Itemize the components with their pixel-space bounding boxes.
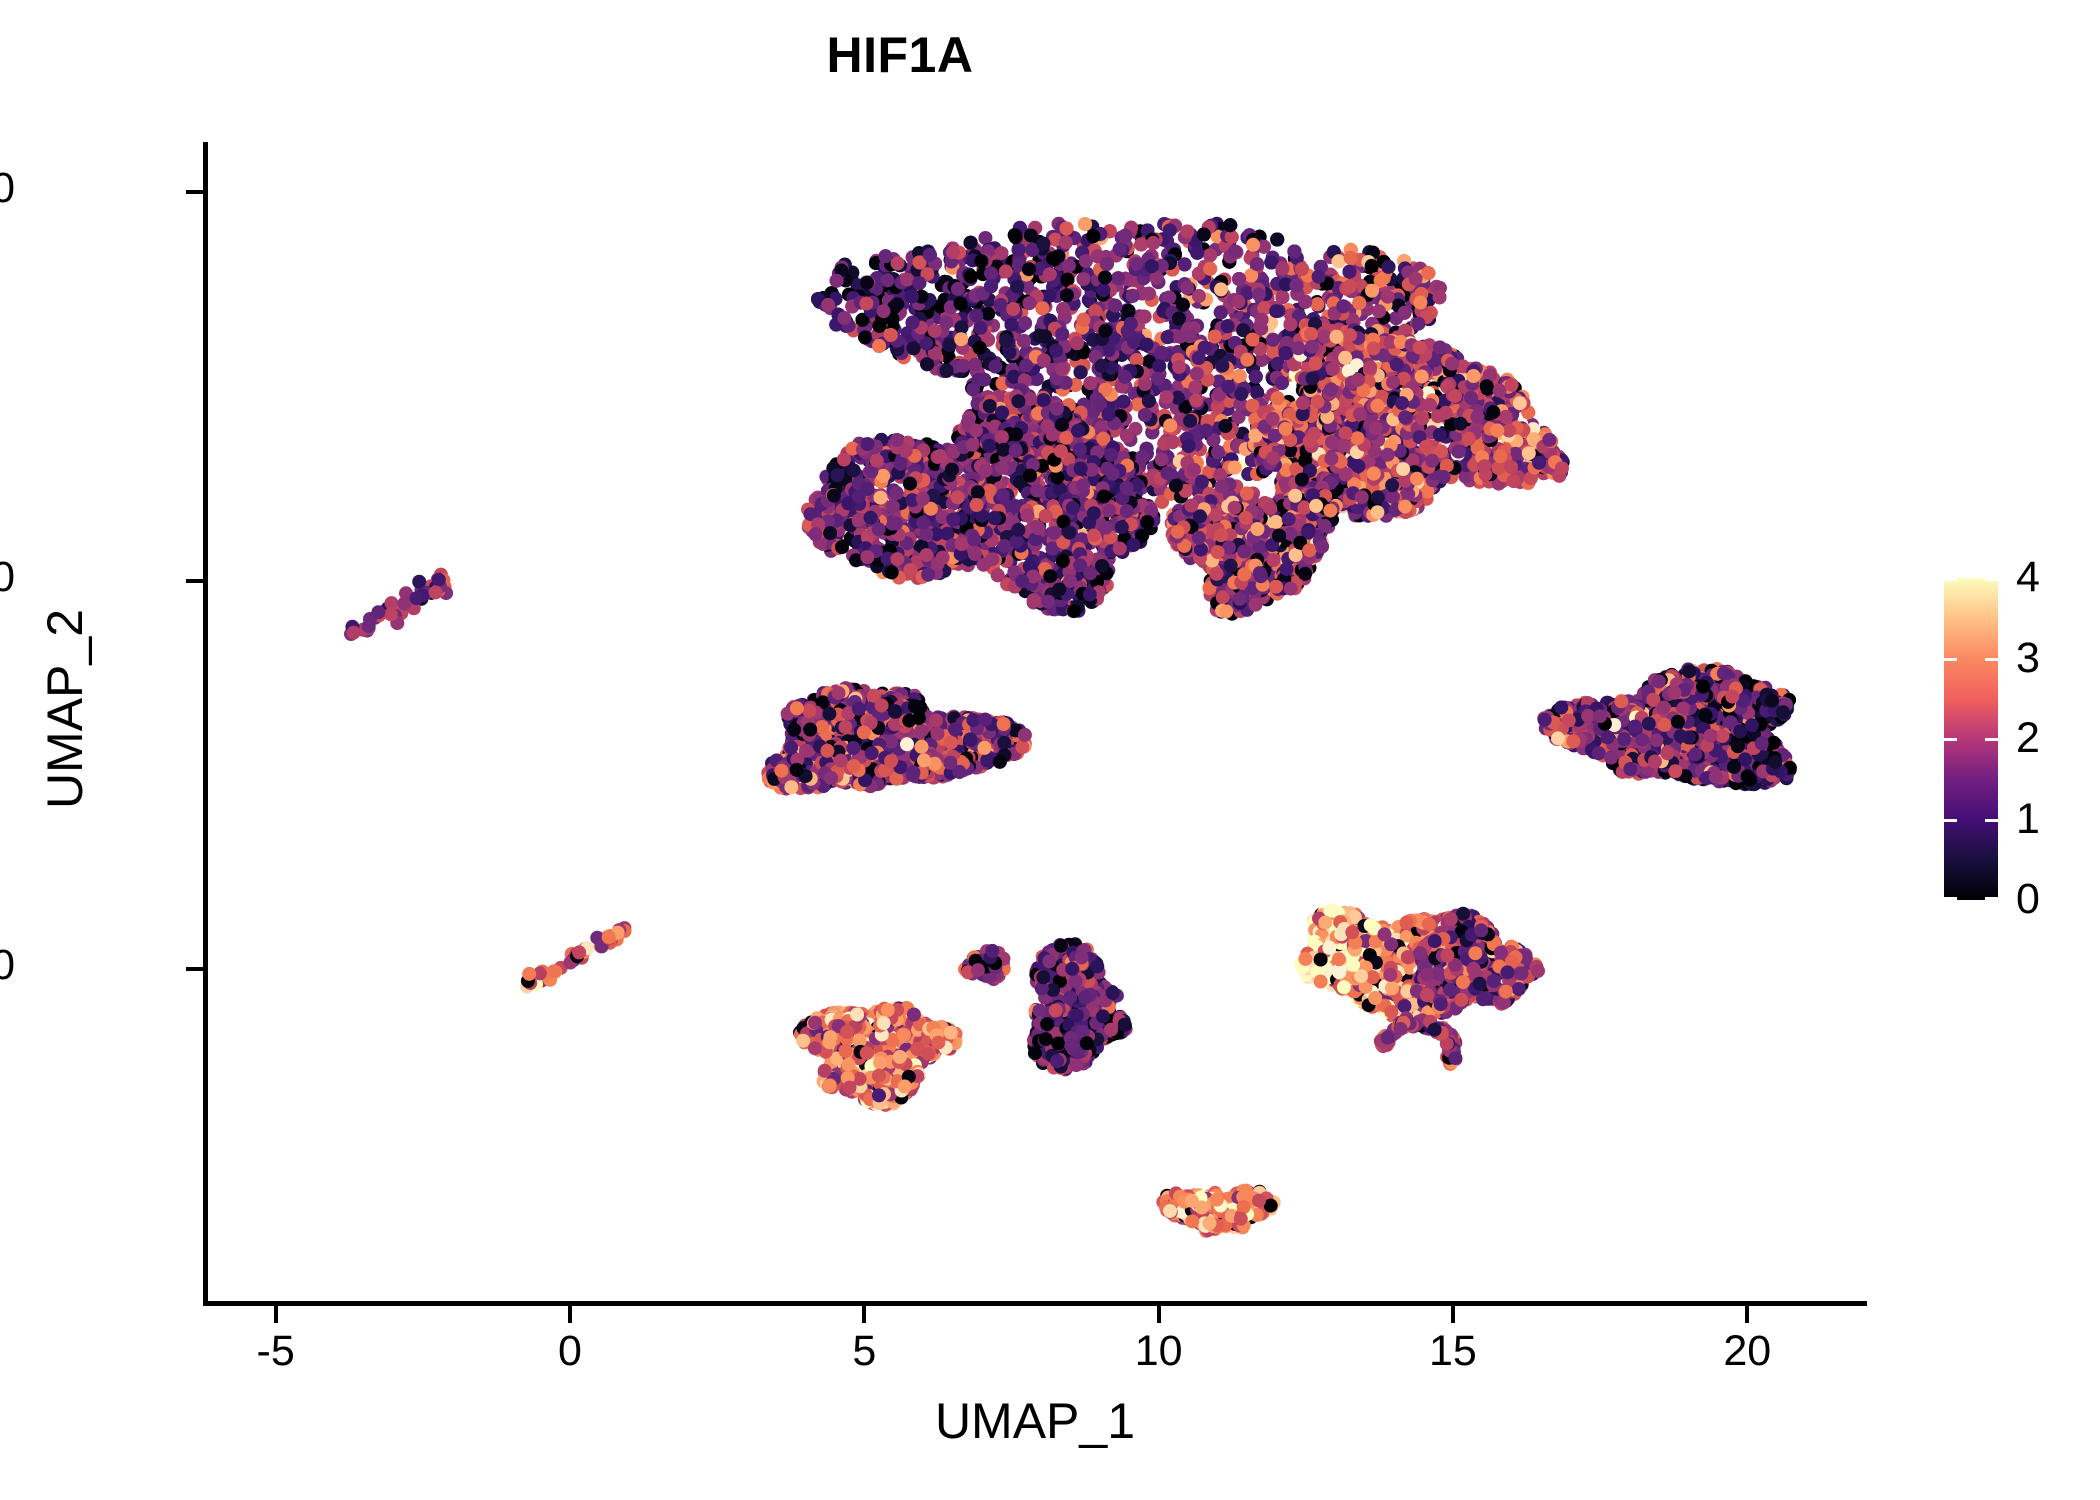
scatter-points-layer bbox=[205, 142, 1865, 1303]
x-tick-mark bbox=[862, 1306, 866, 1323]
y-tick-mark bbox=[186, 190, 203, 194]
colorbar-tick-mark bbox=[1944, 819, 1998, 822]
y-tick-label: 0 bbox=[0, 941, 15, 990]
x-tick-mark bbox=[1745, 1306, 1749, 1323]
x-axis-title: UMAP_1 bbox=[205, 1392, 1865, 1450]
umap-feature-plot: HIF1A -505101520 01020 UMAP_1 UMAP_2 432… bbox=[0, 0, 2100, 1500]
y-tick-label: 10 bbox=[0, 553, 15, 602]
colorbar-tick-mark bbox=[1944, 897, 1998, 900]
colorbar-tick-label: 2 bbox=[2016, 717, 2040, 760]
plot-panel bbox=[205, 142, 1865, 1303]
colorbar-tick-label: 3 bbox=[2016, 637, 2040, 680]
x-tick-label: 0 bbox=[510, 1327, 630, 1376]
colorbar-tick-mark bbox=[1944, 658, 1998, 661]
y-tick-mark bbox=[186, 967, 203, 971]
y-tick-mark bbox=[186, 579, 203, 583]
y-axis-title: UMAP_2 bbox=[36, 359, 94, 1059]
y-axis-line bbox=[203, 142, 208, 1306]
colorbar-tick-mark bbox=[1944, 578, 1998, 581]
x-tick-label: 15 bbox=[1393, 1327, 1513, 1376]
x-tick-mark bbox=[274, 1306, 278, 1323]
y-tick-label: 20 bbox=[0, 164, 15, 213]
colorbar-tick-label: 0 bbox=[2016, 878, 2040, 921]
x-tick-mark bbox=[568, 1306, 572, 1323]
x-axis-line bbox=[205, 1301, 1867, 1306]
x-tick-mark bbox=[1451, 1306, 1455, 1323]
x-tick-label: 20 bbox=[1687, 1327, 1807, 1376]
colorbar-tick-label: 1 bbox=[2016, 798, 2040, 841]
colorbar-tick-mark bbox=[1944, 738, 1998, 741]
x-tick-label: 10 bbox=[1099, 1327, 1219, 1376]
page-title: HIF1A bbox=[0, 26, 1800, 84]
colorbar-tick-label: 4 bbox=[2016, 556, 2040, 599]
x-tick-mark bbox=[1157, 1306, 1161, 1323]
colorbar-legend: 43210 bbox=[1944, 578, 2094, 900]
x-tick-label: -5 bbox=[216, 1327, 336, 1376]
x-tick-label: 5 bbox=[804, 1327, 924, 1376]
